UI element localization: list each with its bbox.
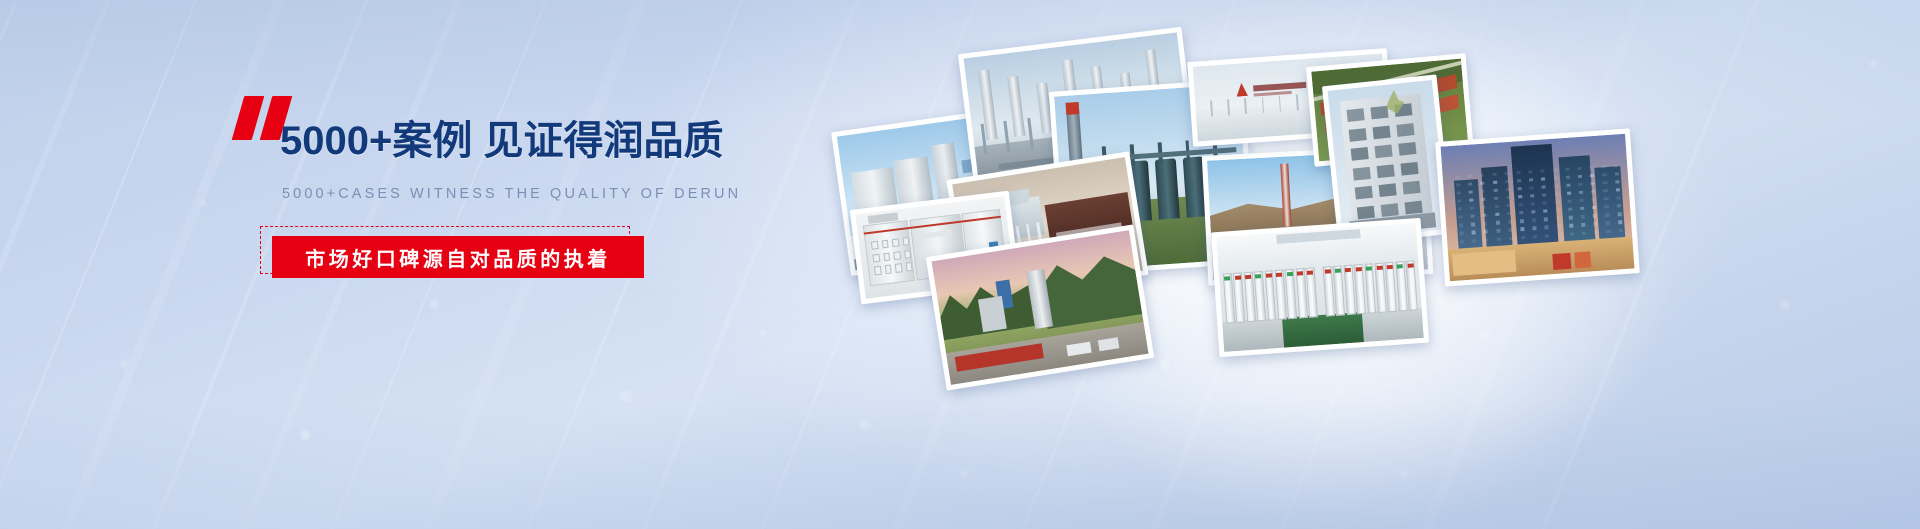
- banner-headline: 5000+案例 见证得润品质: [280, 118, 723, 164]
- project-photo-collage: [830, 40, 1890, 500]
- photo-image: [1327, 80, 1447, 240]
- photo-image: [931, 230, 1148, 385]
- collage-photo-city-towers: [1435, 128, 1640, 286]
- collage-photo-switchgear-room: [1211, 218, 1429, 357]
- banner-ribbon: 市场好口碑源自对品质的执着: [260, 226, 660, 280]
- headline-row: 5000+案例 见证得润品质: [236, 118, 706, 174]
- ribbon-plate: 市场好口碑源自对品质的执着: [272, 236, 644, 278]
- photo-image: [1441, 134, 1635, 282]
- promo-banner: 5000+案例 见证得润品质 5000+CASES WITNESS THE QU…: [0, 0, 1920, 529]
- banner-text-block: 5000+案例 见证得润品质 5000+CASES WITNESS THE QU…: [236, 118, 706, 280]
- banner-subline: 5000+CASES WITNESS THE QUALITY OF DERUN: [282, 186, 706, 202]
- photo-image: [1216, 223, 1424, 352]
- ribbon-label: 市场好口碑源自对品质的执着: [305, 243, 611, 272]
